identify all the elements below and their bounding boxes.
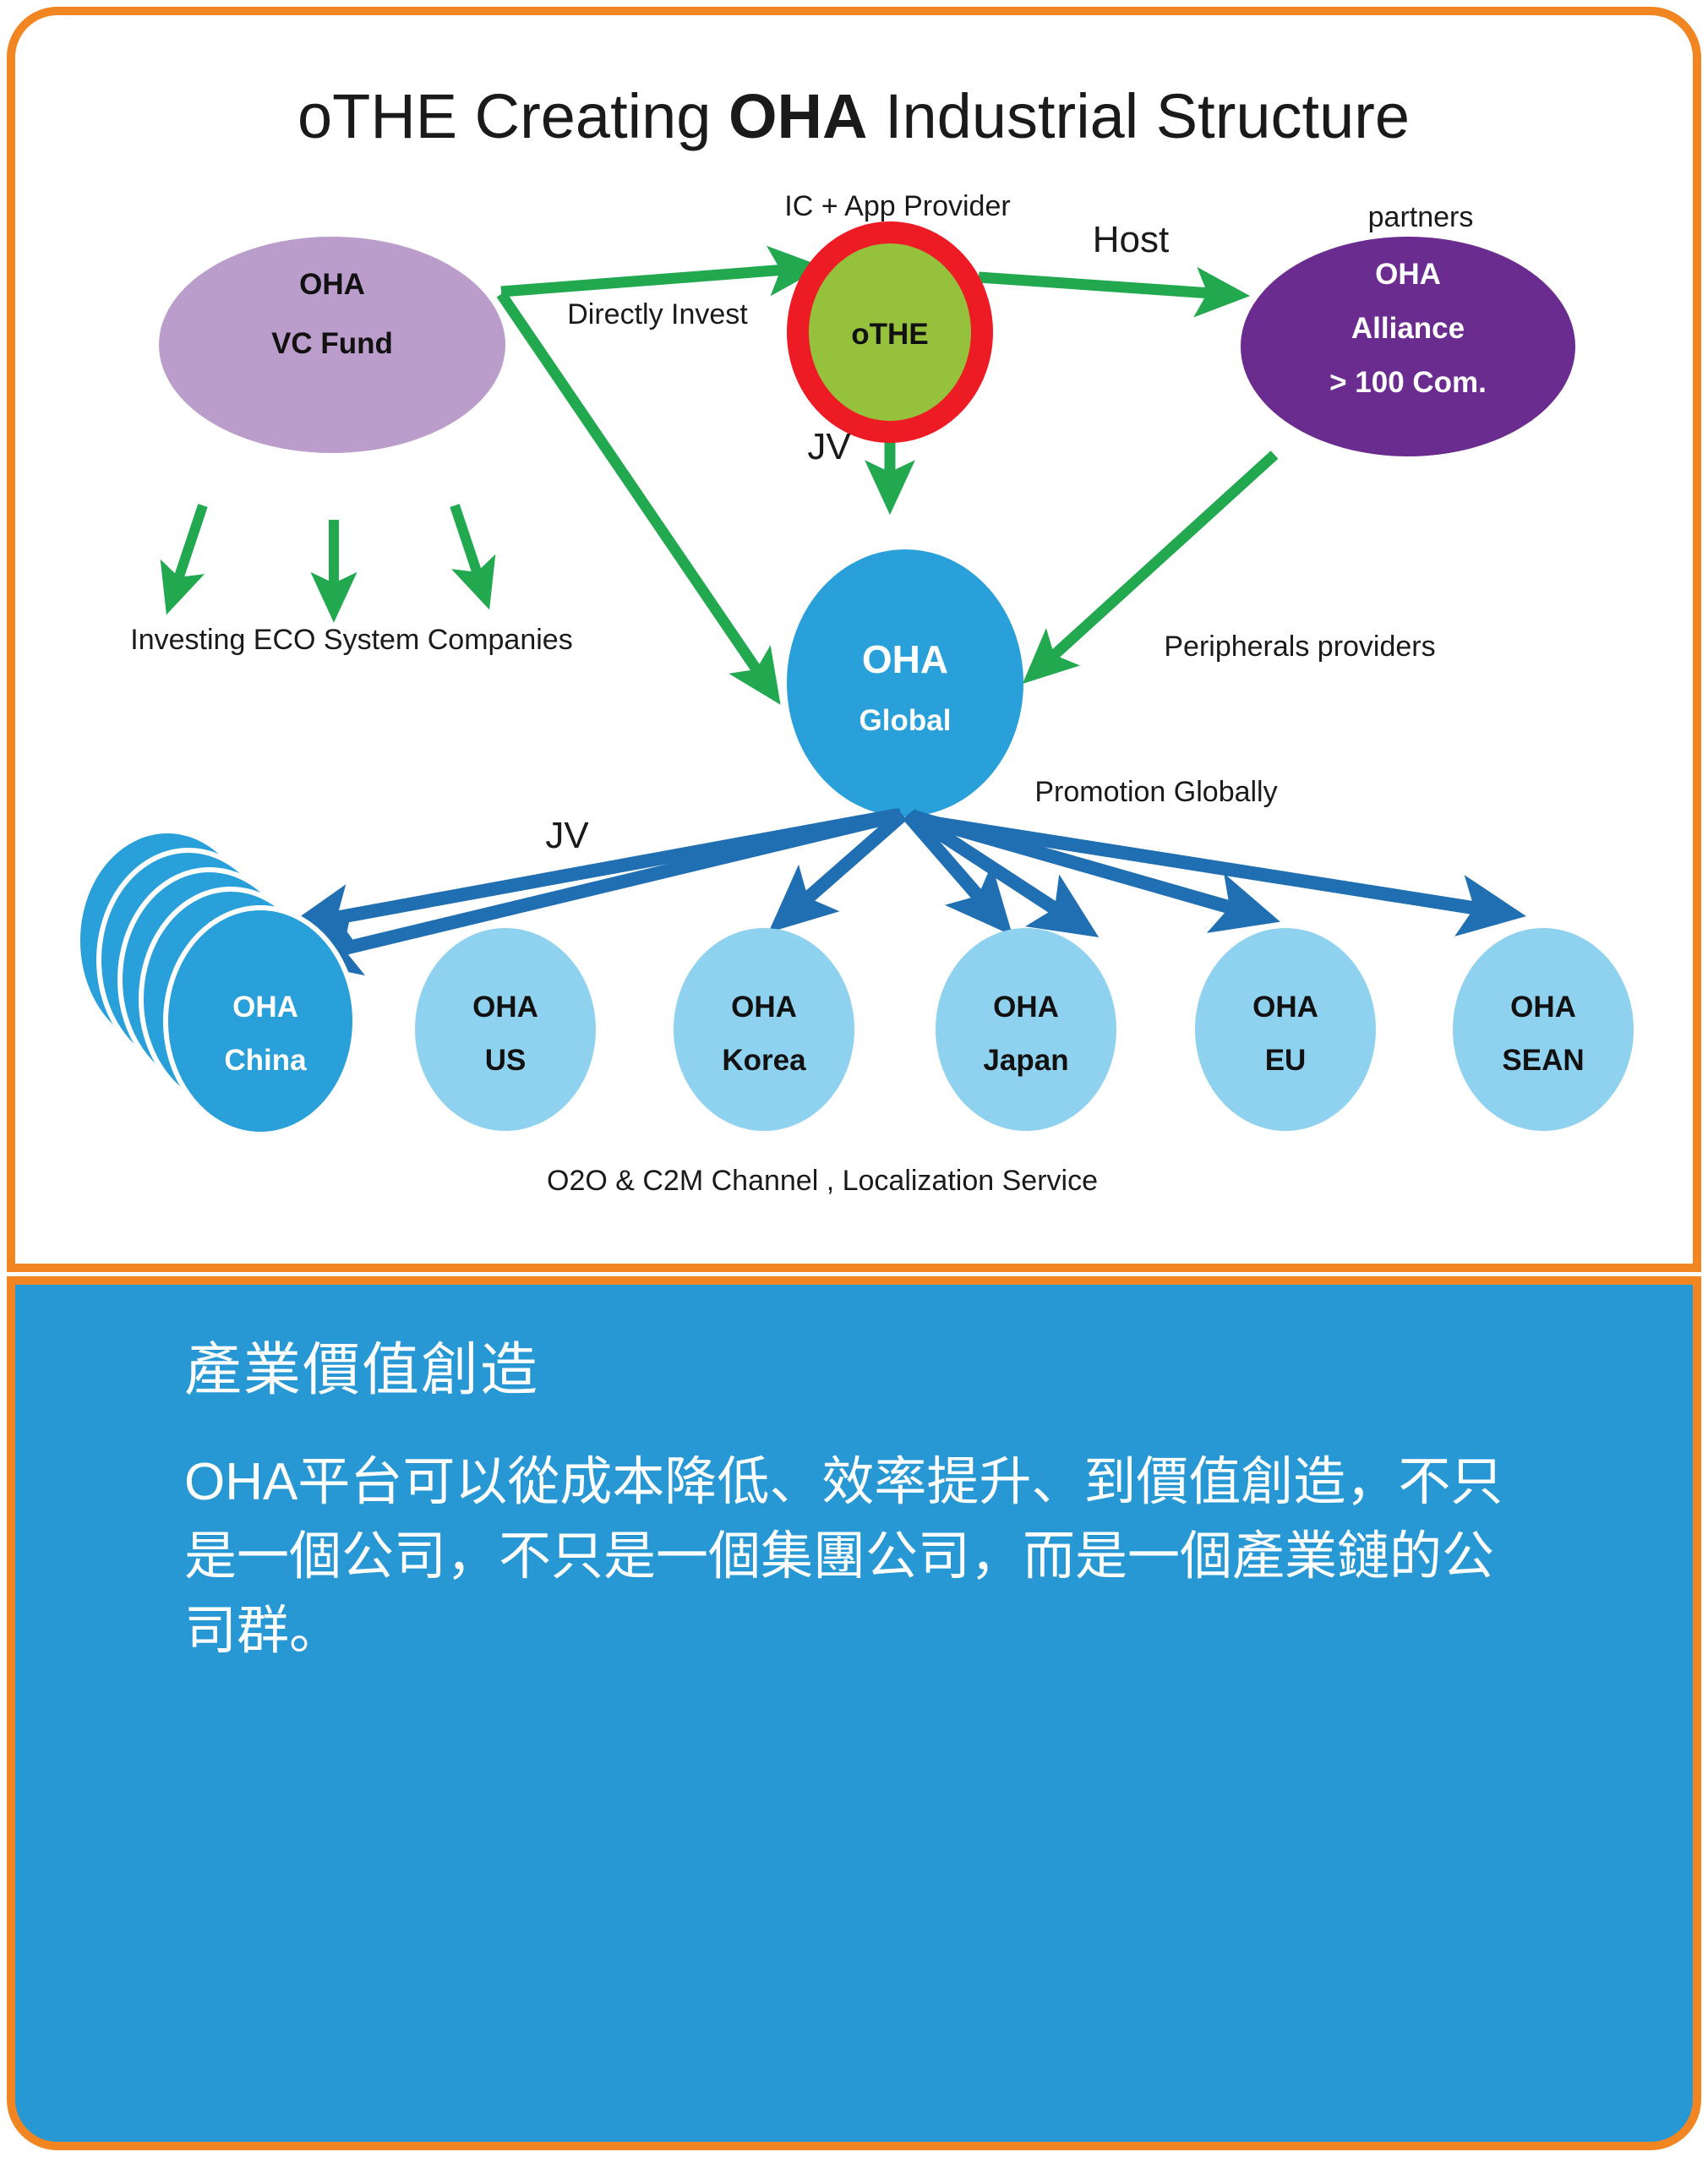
label-host: Host [1093,219,1169,260]
node-eu-line1: OHA [1252,991,1318,1024]
node-alliance-line1: OHA [1375,258,1441,291]
edge-vcfund-eco-1 [174,505,203,592]
node-japan-line2: Japan [983,1044,1068,1077]
label-partners: partners [1368,201,1474,233]
node-sean-line2: SEAN [1502,1044,1584,1077]
caption-body: OHA平台可以從成本降低、效率提升、到價值創造，不只是一個公司，不只是一個集團公… [184,1445,1536,1668]
node-global-line2: Global [859,704,952,737]
node-vc-fund-line1: OHA [299,268,365,301]
edge-vcfund-to-othe [501,269,797,292]
node-oha-eu[interactable]: OHA EU [1195,928,1376,1131]
node-oha-alliance[interactable]: OHA Alliance > 100 Com. [1241,237,1575,456]
node-oha-china[interactable]: OHA China [78,831,355,1134]
label-directly-invest: Directly Invest [567,298,748,330]
node-korea-line1: OHA [731,991,797,1024]
node-vc-fund-line2: VC Fund [271,327,393,360]
title-part-1: oTHE Creating [297,81,728,151]
node-othe[interactable]: oTHE [798,232,982,432]
industrial-structure-diagram: oTHE Creating OHA Industrial Structure O… [15,15,1693,1264]
caption-heading: 產業價值創造 [184,1323,539,1406]
label-peripherals: Peripherals providers [1164,631,1435,663]
node-othe-label: oTHE [851,318,928,351]
edge-vcfund-eco-3 [455,505,482,587]
node-korea-line2: Korea [722,1044,806,1077]
node-oha-us[interactable]: OHA US [415,928,596,1131]
node-oha-global[interactable]: OHA Global [787,549,1023,816]
node-us-line2: US [485,1044,527,1077]
label-ic-app-provider: IC + App Provider [784,190,1010,222]
node-eu-line2: EU [1265,1044,1307,1077]
label-o2o-channel: O2O & C2M Channel , Localization Service [547,1165,1098,1197]
label-investing-eco: Investing ECO System Companies [130,624,572,656]
diagram-panel: oTHE Creating OHA Industrial Structure O… [7,7,1701,1272]
title-part-2: OHA [728,81,867,151]
label-jv-bottom: JV [545,815,589,856]
slide-root: oTHE Creating OHA Industrial Structure O… [0,0,1708,2157]
node-oha-vc-fund[interactable]: OHA VC Fund [159,237,505,453]
node-oha-korea[interactable]: OHA Korea [674,928,854,1131]
node-japan-line1: OHA [993,991,1059,1024]
node-alliance-line3: > 100 Com. [1329,366,1487,399]
node-alliance-line2: Alliance [1351,312,1465,345]
node-china-line1: OHA [232,991,298,1024]
node-us-line1: OHA [472,991,538,1024]
node-china-line2: China [224,1044,307,1077]
node-oha-sean[interactable]: OHA SEAN [1453,928,1634,1131]
node-sean-line1: OHA [1510,991,1576,1024]
title-part-3: Industrial Structure [867,81,1410,151]
label-jv-top: JV [807,426,851,467]
page-title: oTHE Creating OHA Industrial Structure [297,81,1410,151]
label-promotion-globally: Promotion Globally [1034,776,1277,808]
node-oha-japan[interactable]: OHA Japan [936,928,1116,1131]
node-global-line1: OHA [862,637,948,681]
edge-othe-to-alliance [979,277,1224,294]
caption-panel: 產業價值創造 OHA平台可以從成本降低、效率提升、到價值創造，不只是一個公司，不… [7,1276,1701,2150]
